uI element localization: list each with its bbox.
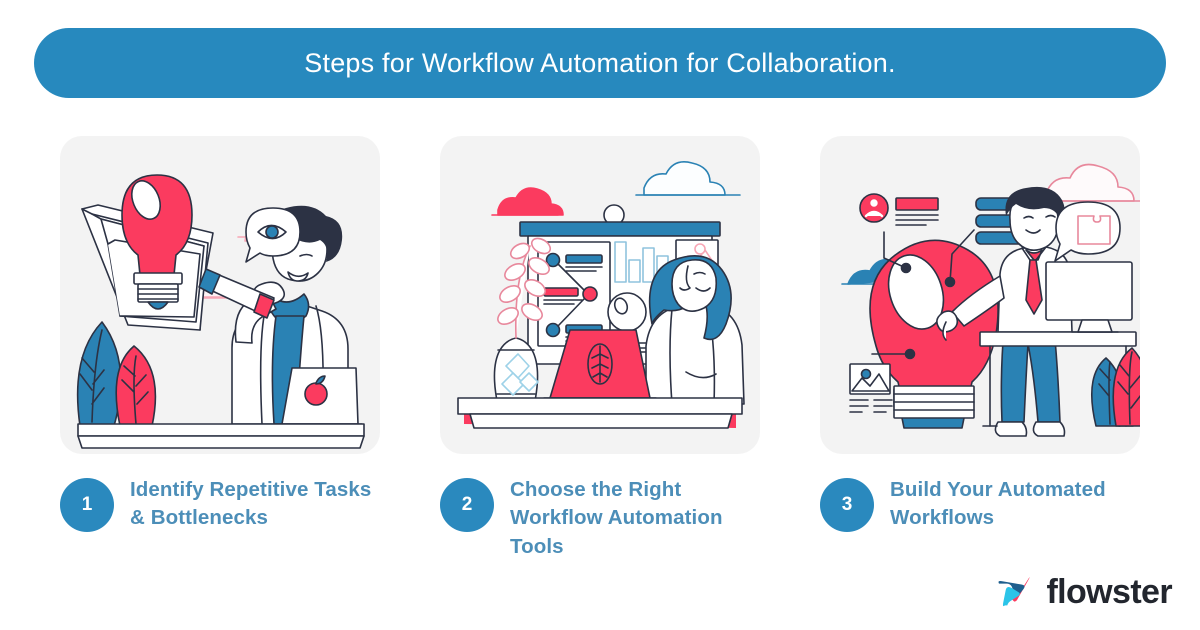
illustration-card-1 <box>60 136 380 454</box>
step-1: 1 Identify Repetitive Tasks & Bottleneck… <box>60 136 380 561</box>
header-banner: Steps for Workflow Automation for Collab… <box>34 28 1166 98</box>
page-title: Steps for Workflow Automation for Collab… <box>304 48 895 79</box>
logo-wordmark: flowster <box>1046 575 1172 609</box>
step-3-number-badge: 3 <box>820 478 874 532</box>
step-2-title: Choose the Right Workflow Automation Too… <box>510 476 756 561</box>
step-1-label-row: 1 Identify Repetitive Tasks & Bottleneck… <box>60 476 380 533</box>
illustration-build-automated-workflows <box>820 136 1140 454</box>
steps-row: 1 Identify Repetitive Tasks & Bottleneck… <box>60 136 1140 561</box>
step-3-label-row: 3 Build Your Automated Workflows <box>820 476 1140 533</box>
step-1-title: Identify Repetitive Tasks & Bottlenecks <box>130 476 376 533</box>
illustration-choose-right-tools <box>440 136 760 454</box>
illustration-identify-repetitive-tasks <box>60 136 380 454</box>
illustration-card-2 <box>440 136 760 454</box>
brand-logo[interactable]: flowster <box>994 572 1172 612</box>
illustration-card-3 <box>820 136 1140 454</box>
infographic-page: Steps for Workflow Automation for Collab… <box>0 0 1200 630</box>
step-3: 3 Build Your Automated Workflows <box>820 136 1140 561</box>
step-2-number-badge: 2 <box>440 478 494 532</box>
step-3-title: Build Your Automated Workflows <box>890 476 1136 533</box>
flowster-triangle-mark-icon <box>994 572 1034 612</box>
step-2: 2 Choose the Right Workflow Automation T… <box>440 136 760 561</box>
step-1-number-badge: 1 <box>60 478 114 532</box>
step-2-label-row: 2 Choose the Right Workflow Automation T… <box>440 476 760 561</box>
